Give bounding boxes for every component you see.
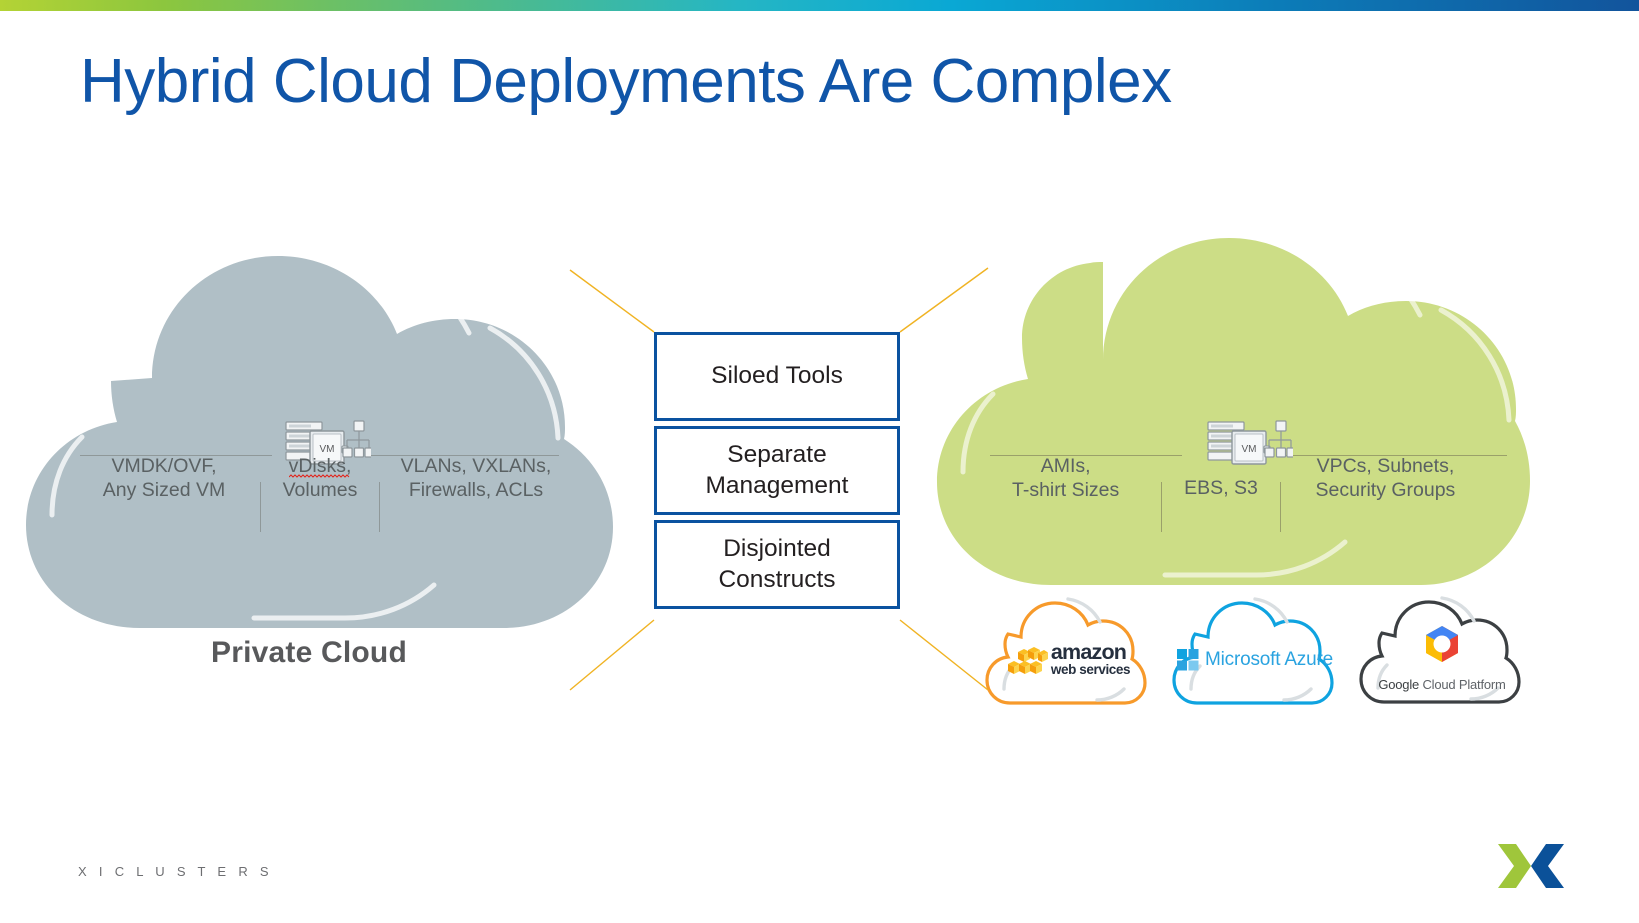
gcp-wordmark: Google Cloud Platform — [1378, 677, 1505, 692]
azure-wordmark: Microsoft Azure — [1205, 649, 1333, 671]
private-col-network: VLANs, VXLANs, Firewalls, ACLs — [380, 455, 572, 503]
center-box-label: Disjointed Constructs — [718, 534, 835, 595]
center-box-siloed-tools[interactable]: Siloed Tools — [654, 332, 900, 421]
microsoft-windows-icon — [1177, 649, 1199, 671]
azure-logo: Microsoft Azure — [1166, 593, 1344, 705]
center-box-label: Separate Management — [705, 440, 848, 501]
provider-cloud-azure: Microsoft Azure — [1166, 593, 1344, 705]
svg-text:VM: VM — [320, 444, 335, 455]
slide-canvas: Hybrid Cloud Deployments Are Complex VM — [0, 0, 1639, 923]
gcp-logo: Google Cloud Platform — [1353, 588, 1531, 700]
public-cloud-columns: AMIs, T-shirt Sizes EBS, S3 VPCs, Subnet… — [970, 455, 1490, 532]
aws-wordmark-amazon: amazon — [1051, 643, 1130, 663]
private-col-compute: VMDK/OVF, Any Sized VM — [68, 455, 260, 503]
connector-bottom-right — [900, 620, 988, 690]
page-title: Hybrid Cloud Deployments Are Complex — [80, 46, 1172, 117]
center-box-group: Siloed Tools Separate Management Disjoin… — [654, 332, 900, 609]
top-gradient-bar — [0, 0, 1639, 11]
gcp-wordmark-google: Google — [1378, 677, 1419, 692]
nutanix-x-logo — [1496, 840, 1566, 892]
aws-logo: amazon web services — [979, 593, 1157, 705]
provider-cloud-gcp: Google Cloud Platform — [1353, 588, 1531, 700]
aws-wordmark-webservices: web services — [1051, 663, 1130, 677]
aws-boxes-icon — [1006, 644, 1048, 678]
private-cloud-columns: VMDK/OVF, Any Sized VM vDisks, Volumes V… — [60, 455, 580, 532]
private-cloud-label: Private Cloud — [0, 636, 618, 670]
center-box-disjointed-constructs[interactable]: Disjointed Constructs — [654, 520, 900, 609]
private-col-storage: vDisks, Volumes — [261, 455, 379, 503]
svg-text:VM: VM — [1242, 444, 1257, 455]
gcp-wordmark-platform: Cloud Platform — [1419, 677, 1506, 692]
footer-label: X I C L U S T E R S — [78, 864, 273, 879]
center-box-separate-management[interactable]: Separate Management — [654, 426, 900, 515]
public-col-storage: EBS, S3 — [1162, 455, 1280, 501]
center-box-label: Siloed Tools — [711, 361, 843, 392]
public-col-network: VPCs, Subnets, Security Groups — [1281, 455, 1490, 503]
google-cloud-hexagon-icon — [1412, 622, 1472, 676]
spellcheck-squiggle-icon — [289, 474, 351, 478]
provider-cloud-aws: amazon web services — [979, 593, 1157, 705]
public-col-compute: AMIs, T-shirt Sizes — [970, 455, 1161, 503]
